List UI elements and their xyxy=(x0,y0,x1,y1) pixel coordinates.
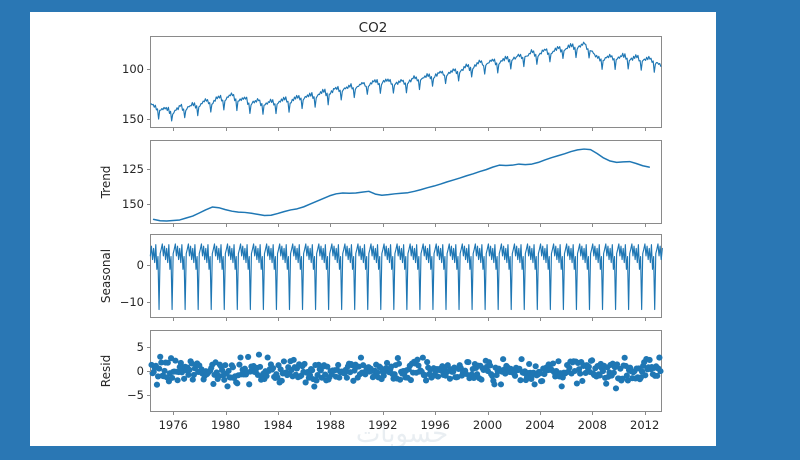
xtick-mark-2012 xyxy=(645,411,646,415)
xtick-mark-1980 xyxy=(226,317,227,321)
xtick-label-1976: 1976 xyxy=(159,418,188,432)
ytick-label-observed-150: 150 xyxy=(122,112,144,126)
xtick-mark-2012 xyxy=(645,223,646,227)
xtick-mark-1988 xyxy=(330,317,331,321)
trend-series-plot xyxy=(151,141,661,223)
xtick-label-1992: 1992 xyxy=(368,418,397,432)
ylabel-wrap-trend: Trend xyxy=(150,141,151,223)
xtick-label-1980: 1980 xyxy=(211,418,240,432)
xtick-mark-2004 xyxy=(540,223,541,227)
xtick-mark-2004 xyxy=(540,317,541,321)
xtick-mark-2000 xyxy=(488,317,489,321)
xtick-mark-1976 xyxy=(173,127,174,131)
xtick-mark-1984 xyxy=(278,223,279,227)
xtick-mark-1996 xyxy=(435,317,436,321)
xtick-mark-2008 xyxy=(592,411,593,415)
xtick-mark-2000 xyxy=(488,411,489,415)
ylabel-wrap-resid: Resid xyxy=(150,331,151,411)
screenshot-root: { "figure": { "title": "CO2", "backgroun… xyxy=(0,0,800,460)
xtick-label-1984: 1984 xyxy=(263,418,292,432)
xtick-label-2000: 2000 xyxy=(473,418,502,432)
xtick-mark-1980 xyxy=(226,127,227,131)
chart-title: CO2 xyxy=(30,20,716,36)
xtick-mark-1976 xyxy=(173,411,174,415)
axis-label-trend: Trend xyxy=(99,166,113,199)
xtick-mark-1984 xyxy=(278,411,279,415)
xtick-mark-1976 xyxy=(173,317,174,321)
xtick-mark-1988 xyxy=(330,223,331,227)
xtick-mark-1976 xyxy=(173,223,174,227)
xtick-mark-1996 xyxy=(435,127,436,131)
xtick-mark-1992 xyxy=(383,127,384,131)
ytick-mark-observed-100 xyxy=(147,69,151,70)
xtick-mark-1988 xyxy=(330,127,331,131)
xtick-mark-1992 xyxy=(383,223,384,227)
panel-resid: 5 0 −5 Resid 197619801984198819921996200… xyxy=(150,330,662,412)
xtick-mark-1996 xyxy=(435,411,436,415)
ytick-label-seasonal-neg10: −10 xyxy=(120,295,144,309)
xtick-mark-1980 xyxy=(226,223,227,227)
ytick-label-resid-neg5: −5 xyxy=(127,388,144,402)
observed-series-plot xyxy=(151,37,661,127)
xtick-mark-1984 xyxy=(278,317,279,321)
resid-scatter-plot xyxy=(151,331,661,411)
ytick-label-trend-150: 150 xyxy=(122,197,144,211)
ytick-label-resid-5: 5 xyxy=(137,340,144,354)
panel-seasonal: 0 −10 Seasonal xyxy=(150,234,662,318)
axis-label-seasonal: Seasonal xyxy=(99,249,113,303)
xtick-label-2008: 2008 xyxy=(578,418,607,432)
xtick-mark-2012 xyxy=(645,317,646,321)
ytick-mark-observed-150 xyxy=(147,119,151,120)
xtick-mark-1992 xyxy=(383,411,384,415)
xtick-mark-1996 xyxy=(435,223,436,227)
xtick-label-1996: 1996 xyxy=(421,418,450,432)
xtick-mark-2008 xyxy=(592,127,593,131)
seasonal-series-plot xyxy=(151,235,661,317)
xtick-mark-2000 xyxy=(488,223,489,227)
xtick-label-2004: 2004 xyxy=(525,418,554,432)
xtick-mark-2008 xyxy=(592,317,593,321)
xtick-mark-2012 xyxy=(645,127,646,131)
xtick-mark-1980 xyxy=(226,411,227,415)
xtick-label-2012: 2012 xyxy=(630,418,659,432)
xtick-mark-2008 xyxy=(592,223,593,227)
panel-trend: 150 125 Trend xyxy=(150,140,662,224)
xtick-mark-2004 xyxy=(540,127,541,131)
xtick-mark-2004 xyxy=(540,411,541,415)
xtick-mark-1984 xyxy=(278,127,279,131)
axis-label-resid: Resid xyxy=(99,355,113,387)
ytick-label-observed-100: 100 xyxy=(122,62,144,76)
ytick-label-seasonal-0: 0 xyxy=(137,258,144,272)
ytick-label-resid-0: 0 xyxy=(137,364,144,378)
ytick-label-trend-125: 125 xyxy=(122,162,144,176)
ylabel-wrap-seasonal: Seasonal xyxy=(150,235,151,317)
xtick-label-1988: 1988 xyxy=(316,418,345,432)
figure-canvas: حسوبات CO2 150 100 150 125 Trend 0 −10 S… xyxy=(30,12,716,446)
xtick-mark-2000 xyxy=(488,127,489,131)
xtick-mark-1988 xyxy=(330,411,331,415)
xtick-mark-1992 xyxy=(383,317,384,321)
panel-observed: 150 100 xyxy=(150,36,662,128)
